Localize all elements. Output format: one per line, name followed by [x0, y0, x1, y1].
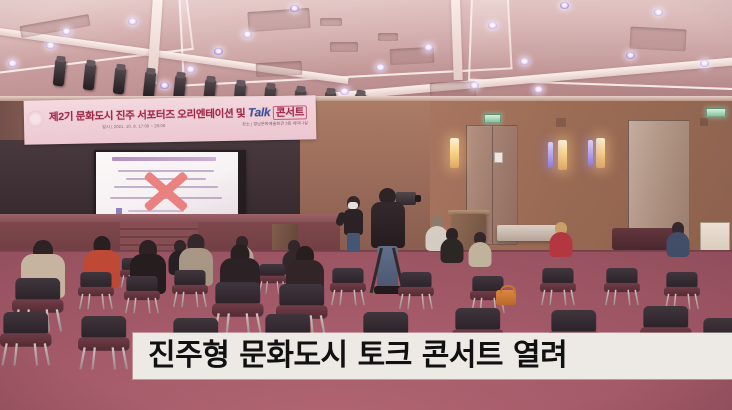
speaker-torso: [344, 209, 363, 235]
downlight: [626, 52, 635, 59]
downlight: [340, 88, 349, 95]
downlight: [560, 2, 569, 9]
operator-torso: [371, 202, 405, 248]
wall-sensor: [700, 118, 708, 126]
projected-slide: [96, 152, 238, 220]
door-notice: [494, 152, 503, 163]
news-caption-text: 진주형 문화도시 토크 콘서트 열려: [148, 341, 567, 371]
chair: [398, 272, 434, 309]
downlight: [488, 22, 497, 29]
slide-text-line: [128, 210, 184, 212]
ceiling-vent: [256, 61, 303, 77]
exit-sign: [484, 114, 501, 123]
exit-sign: [706, 108, 726, 117]
wall-sconce: [450, 138, 459, 168]
chair: [330, 268, 366, 305]
audience-member: [666, 222, 690, 262]
wall-sensor: [556, 118, 566, 127]
wall-sconce: [588, 140, 593, 166]
speaker-legs: [347, 233, 360, 252]
wall-sconce: [596, 138, 605, 168]
downlight: [214, 48, 223, 55]
wall-sconce: [548, 142, 553, 168]
downlight: [424, 44, 433, 51]
downlight: [534, 86, 543, 93]
audience-member: [466, 232, 494, 276]
banner-talk-word: Talk: [248, 105, 271, 119]
downlight: [46, 42, 55, 49]
banner-prefix: 제2기 문화도시 진주 서포터즈 오리엔테이션 및: [49, 108, 248, 124]
chair: [172, 270, 208, 307]
ceiling-vent: [320, 18, 342, 26]
ceiling-vent: [378, 33, 398, 41]
downlight: [520, 58, 529, 65]
audience-member: [438, 228, 466, 272]
slide-title-bar: [112, 157, 216, 161]
banner-datetime: 일시 | 2021. 10. 8. 17:00 ~ 20:00: [102, 123, 165, 130]
red-x-mark-icon: [140, 170, 192, 210]
chair: [78, 272, 114, 309]
downlight: [470, 82, 479, 89]
downlight: [654, 9, 663, 16]
ceiling-vent: [629, 27, 686, 52]
downlight: [128, 18, 137, 25]
face-mask-icon: [348, 202, 358, 209]
audience-member: [548, 222, 574, 264]
downlight: [160, 82, 169, 89]
banner-boxed-word: 콘서트: [273, 105, 307, 120]
ceiling-vent: [330, 42, 358, 52]
downlight: [700, 60, 709, 67]
orange-handbag: [496, 290, 516, 305]
chair: [604, 268, 640, 305]
chair: [78, 316, 130, 370]
event-banner: 제2기 문화도시 진주 서포터즈 오리엔테이션 및 Talk 콘서트 일시 | …: [24, 95, 317, 145]
news-caption-bar: 진주형 문화도시 토크 콘서트 열려: [133, 333, 732, 379]
downlight: [376, 64, 385, 71]
stage-spotlight: [83, 63, 97, 90]
stage-spotlight: [143, 71, 157, 98]
downlight: [186, 66, 195, 73]
ceiling: [0, 0, 732, 104]
standing-speaker: [342, 196, 366, 252]
stage-spotlight: [53, 59, 67, 86]
banner-location: 장소 | 경남문화예술회관 3층 세미나실: [242, 120, 308, 127]
downlight: [290, 5, 299, 12]
chair: [540, 268, 576, 305]
chair: [664, 272, 700, 309]
wall-sconce: [558, 140, 567, 170]
broadcast-frame: 제2기 문화도시 진주 서포터즈 오리엔테이션 및 Talk 콘서트 일시 | …: [0, 0, 732, 410]
chair: [0, 312, 52, 366]
downlight: [8, 60, 17, 67]
banner-logo: [27, 110, 44, 127]
stage-spotlight: [113, 67, 127, 94]
chair: [124, 276, 160, 313]
downlight: [243, 31, 252, 38]
downlight: [62, 28, 71, 35]
